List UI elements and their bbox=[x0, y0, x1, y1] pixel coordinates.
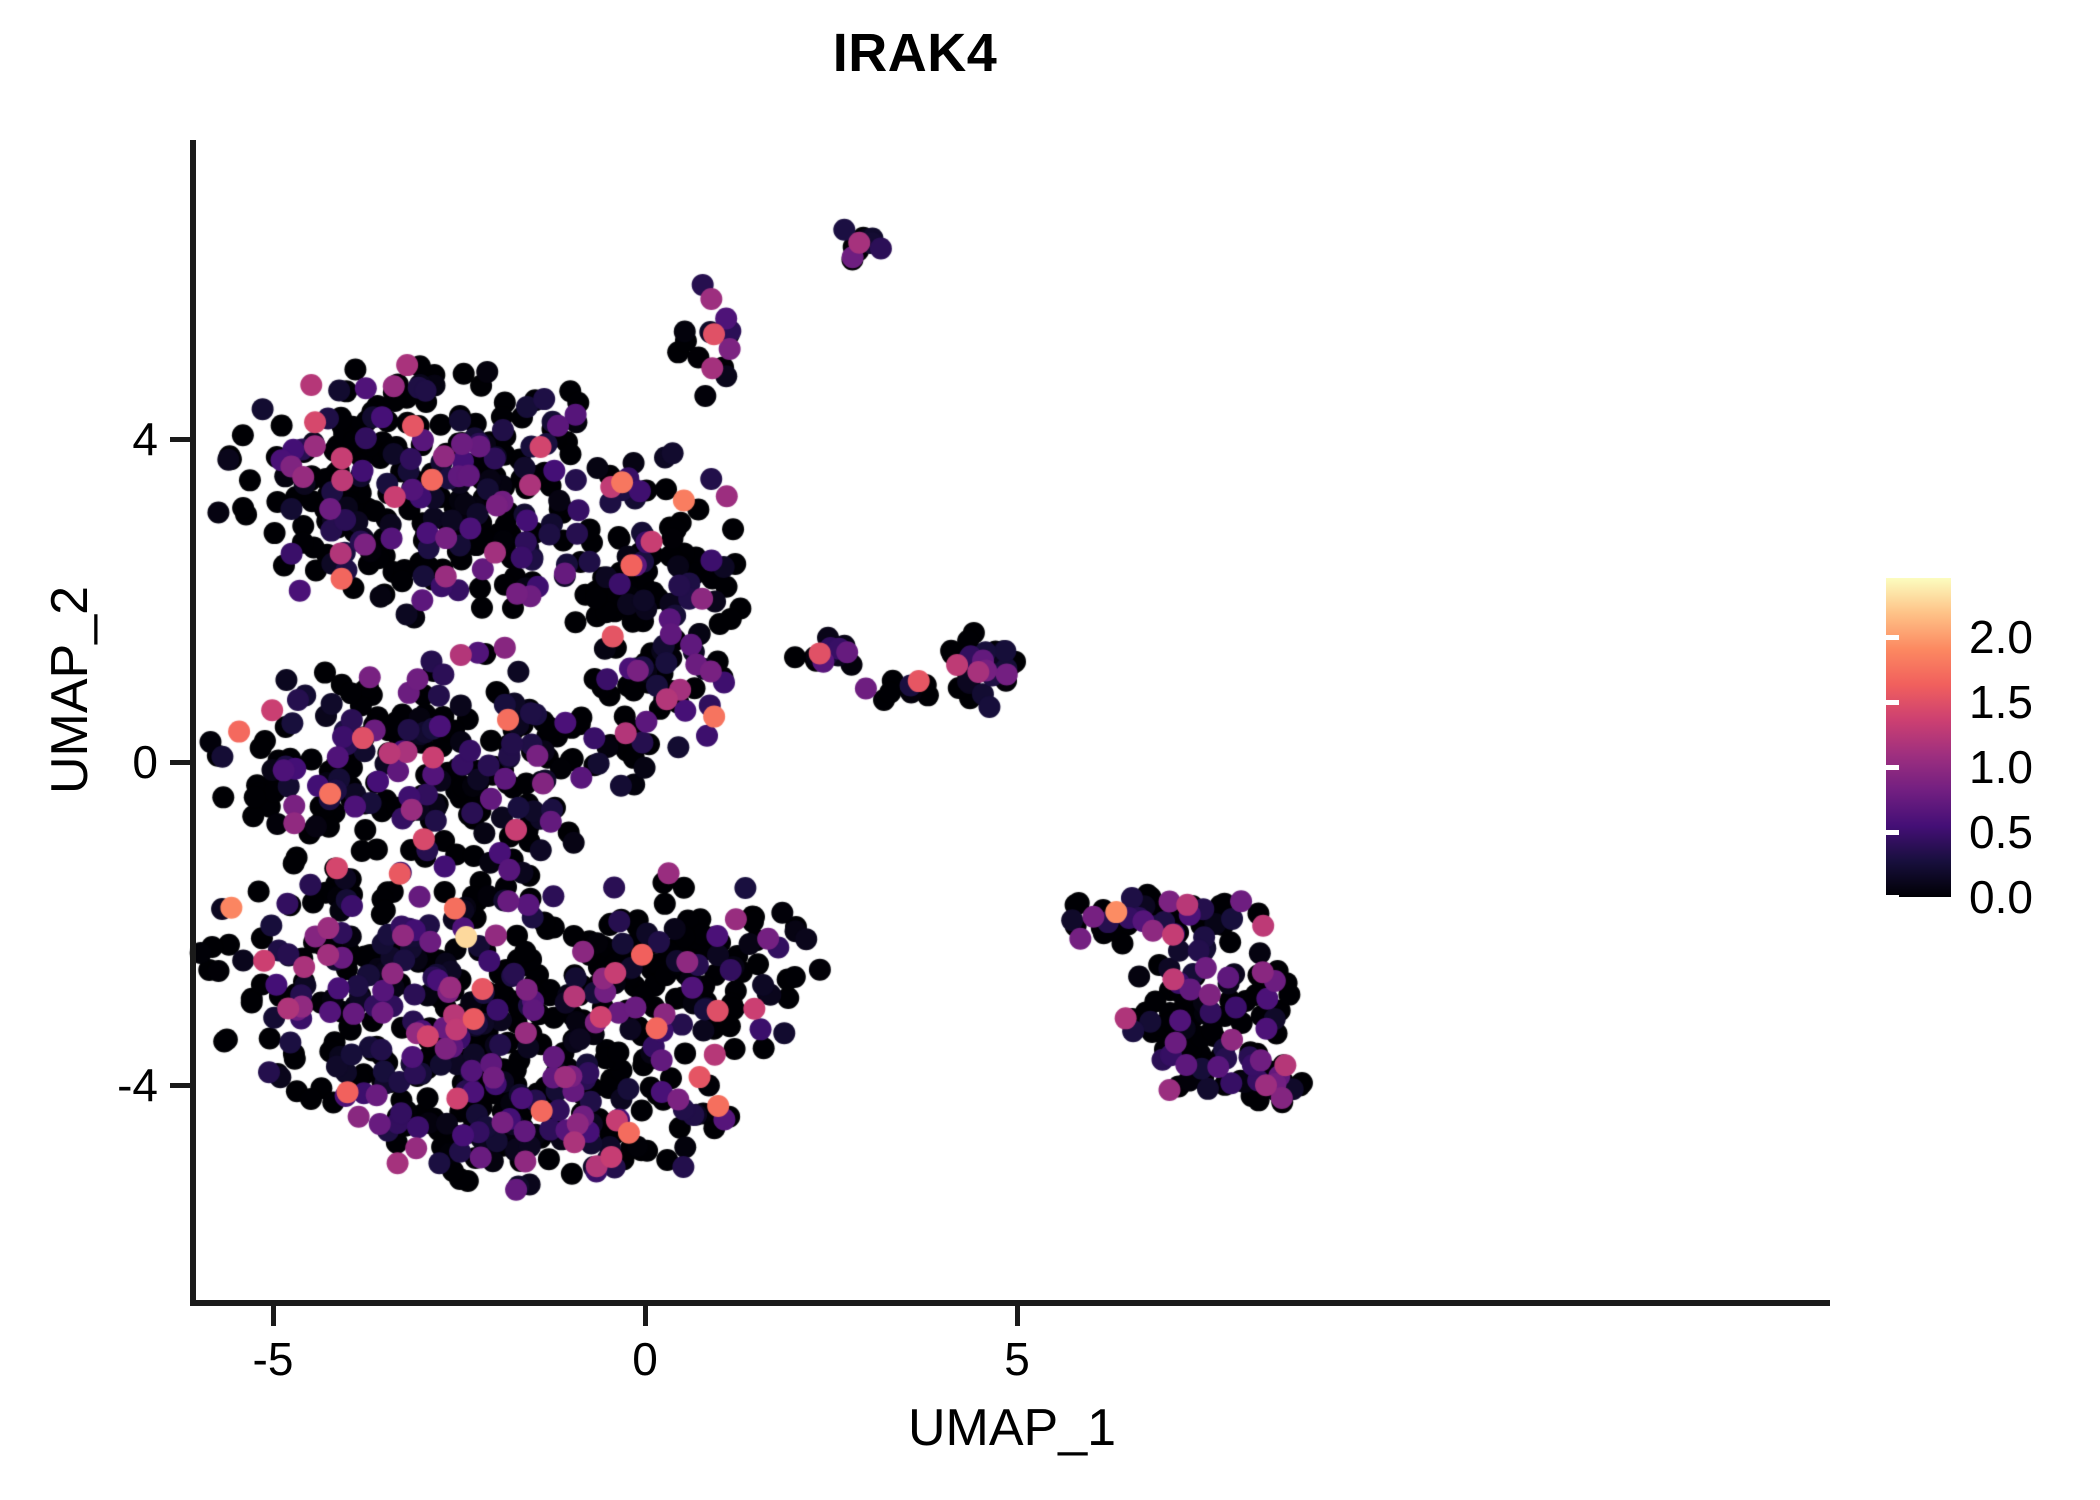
colorbar-tick-label: 2.0 bbox=[1969, 610, 2033, 664]
x-tick-label: 0 bbox=[632, 1332, 658, 1386]
colorbar-tick-label: 1.0 bbox=[1969, 740, 2033, 794]
x-axis-line bbox=[190, 1300, 1830, 1306]
y-axis-line bbox=[190, 140, 196, 1306]
colorbar-gradient[interactable] bbox=[1886, 578, 1951, 897]
x-axis-title: UMAP_1 bbox=[194, 1398, 1830, 1458]
figure-root: IRAK4 -505 40-4 UMAP_1 UMAP_2 2.01.51.00… bbox=[0, 0, 2100, 1500]
colorbar-tick-mark bbox=[1873, 635, 1886, 640]
colorbar-tick-label: 1.5 bbox=[1969, 675, 2033, 729]
colorbar-tick-label: 0.0 bbox=[1969, 870, 2033, 924]
colorbar-tick-mark bbox=[1886, 895, 1899, 900]
colorbar-tick-mark bbox=[1886, 830, 1899, 835]
colorbar-tick-mark bbox=[1886, 765, 1899, 770]
chart-title: IRAK4 bbox=[0, 22, 1830, 84]
y-axis-title: UMAP_2 bbox=[40, 290, 100, 1090]
y-tick-mark bbox=[170, 760, 190, 765]
colorbar-tick-mark bbox=[1886, 700, 1899, 705]
colorbar-tick-mark bbox=[1886, 635, 1899, 640]
x-tick-label: 5 bbox=[1004, 1332, 1030, 1386]
colorbar-tick-mark bbox=[1873, 765, 1886, 770]
y-tick-label: 4 bbox=[132, 412, 158, 466]
colorbar-tick-label: 0.5 bbox=[1969, 805, 2033, 859]
x-tick-mark bbox=[643, 1306, 648, 1326]
y-tick-mark bbox=[170, 1083, 190, 1088]
plot-panel bbox=[194, 140, 1830, 1302]
colorbar-tick-mark bbox=[1873, 830, 1886, 835]
y-tick-label: -4 bbox=[117, 1058, 158, 1112]
x-tick-label: -5 bbox=[253, 1332, 294, 1386]
x-tick-mark bbox=[271, 1306, 276, 1326]
colorbar-tick-mark bbox=[1873, 895, 1886, 900]
colorbar-tick-mark bbox=[1873, 700, 1886, 705]
x-tick-mark bbox=[1015, 1306, 1020, 1326]
y-tick-mark bbox=[170, 437, 190, 442]
y-tick-label: 0 bbox=[132, 735, 158, 789]
